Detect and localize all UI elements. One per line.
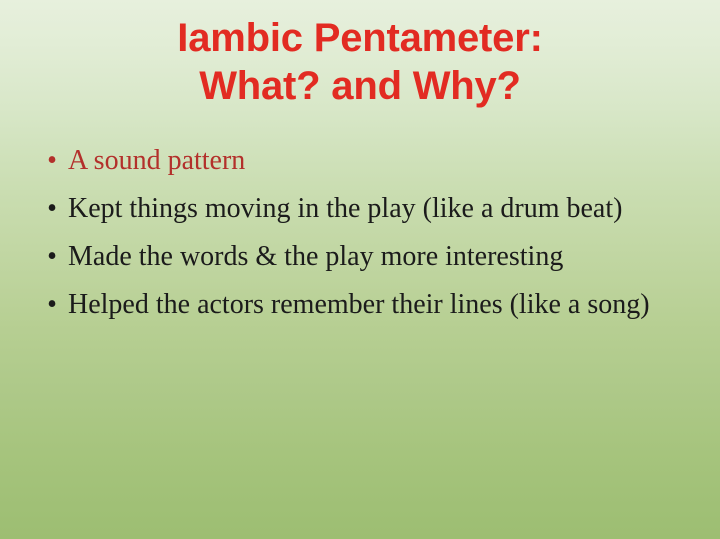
- slide-title: Iambic Pentameter: What? and Why?: [0, 14, 720, 110]
- bullet-marker-icon: •: [45, 188, 59, 229]
- bullet-text: Made the words & the play more interesti…: [68, 236, 684, 277]
- bullet-marker-icon: •: [45, 236, 59, 277]
- presentation-slide: Iambic Pentameter: What? and Why? • A so…: [0, 0, 720, 539]
- bullet-item: • A sound pattern: [38, 140, 684, 181]
- bullet-item: • Made the words & the play more interes…: [38, 236, 684, 277]
- bullet-item: • Kept things moving in the play (like a…: [38, 188, 684, 229]
- bullet-marker-icon: •: [45, 284, 59, 325]
- slide-title-line-1: Iambic Pentameter:: [0, 14, 720, 62]
- bullet-item: • Helped the actors remember their lines…: [38, 284, 684, 325]
- slide-bullet-list: • A sound pattern • Kept things moving i…: [38, 140, 684, 332]
- bullet-marker-icon: •: [45, 140, 59, 181]
- bullet-text: Helped the actors remember their lines (…: [68, 284, 684, 325]
- bullet-text: Kept things moving in the play (like a d…: [68, 188, 684, 229]
- bullet-text: A sound pattern: [68, 140, 684, 181]
- slide-title-line-2: What? and Why?: [0, 62, 720, 110]
